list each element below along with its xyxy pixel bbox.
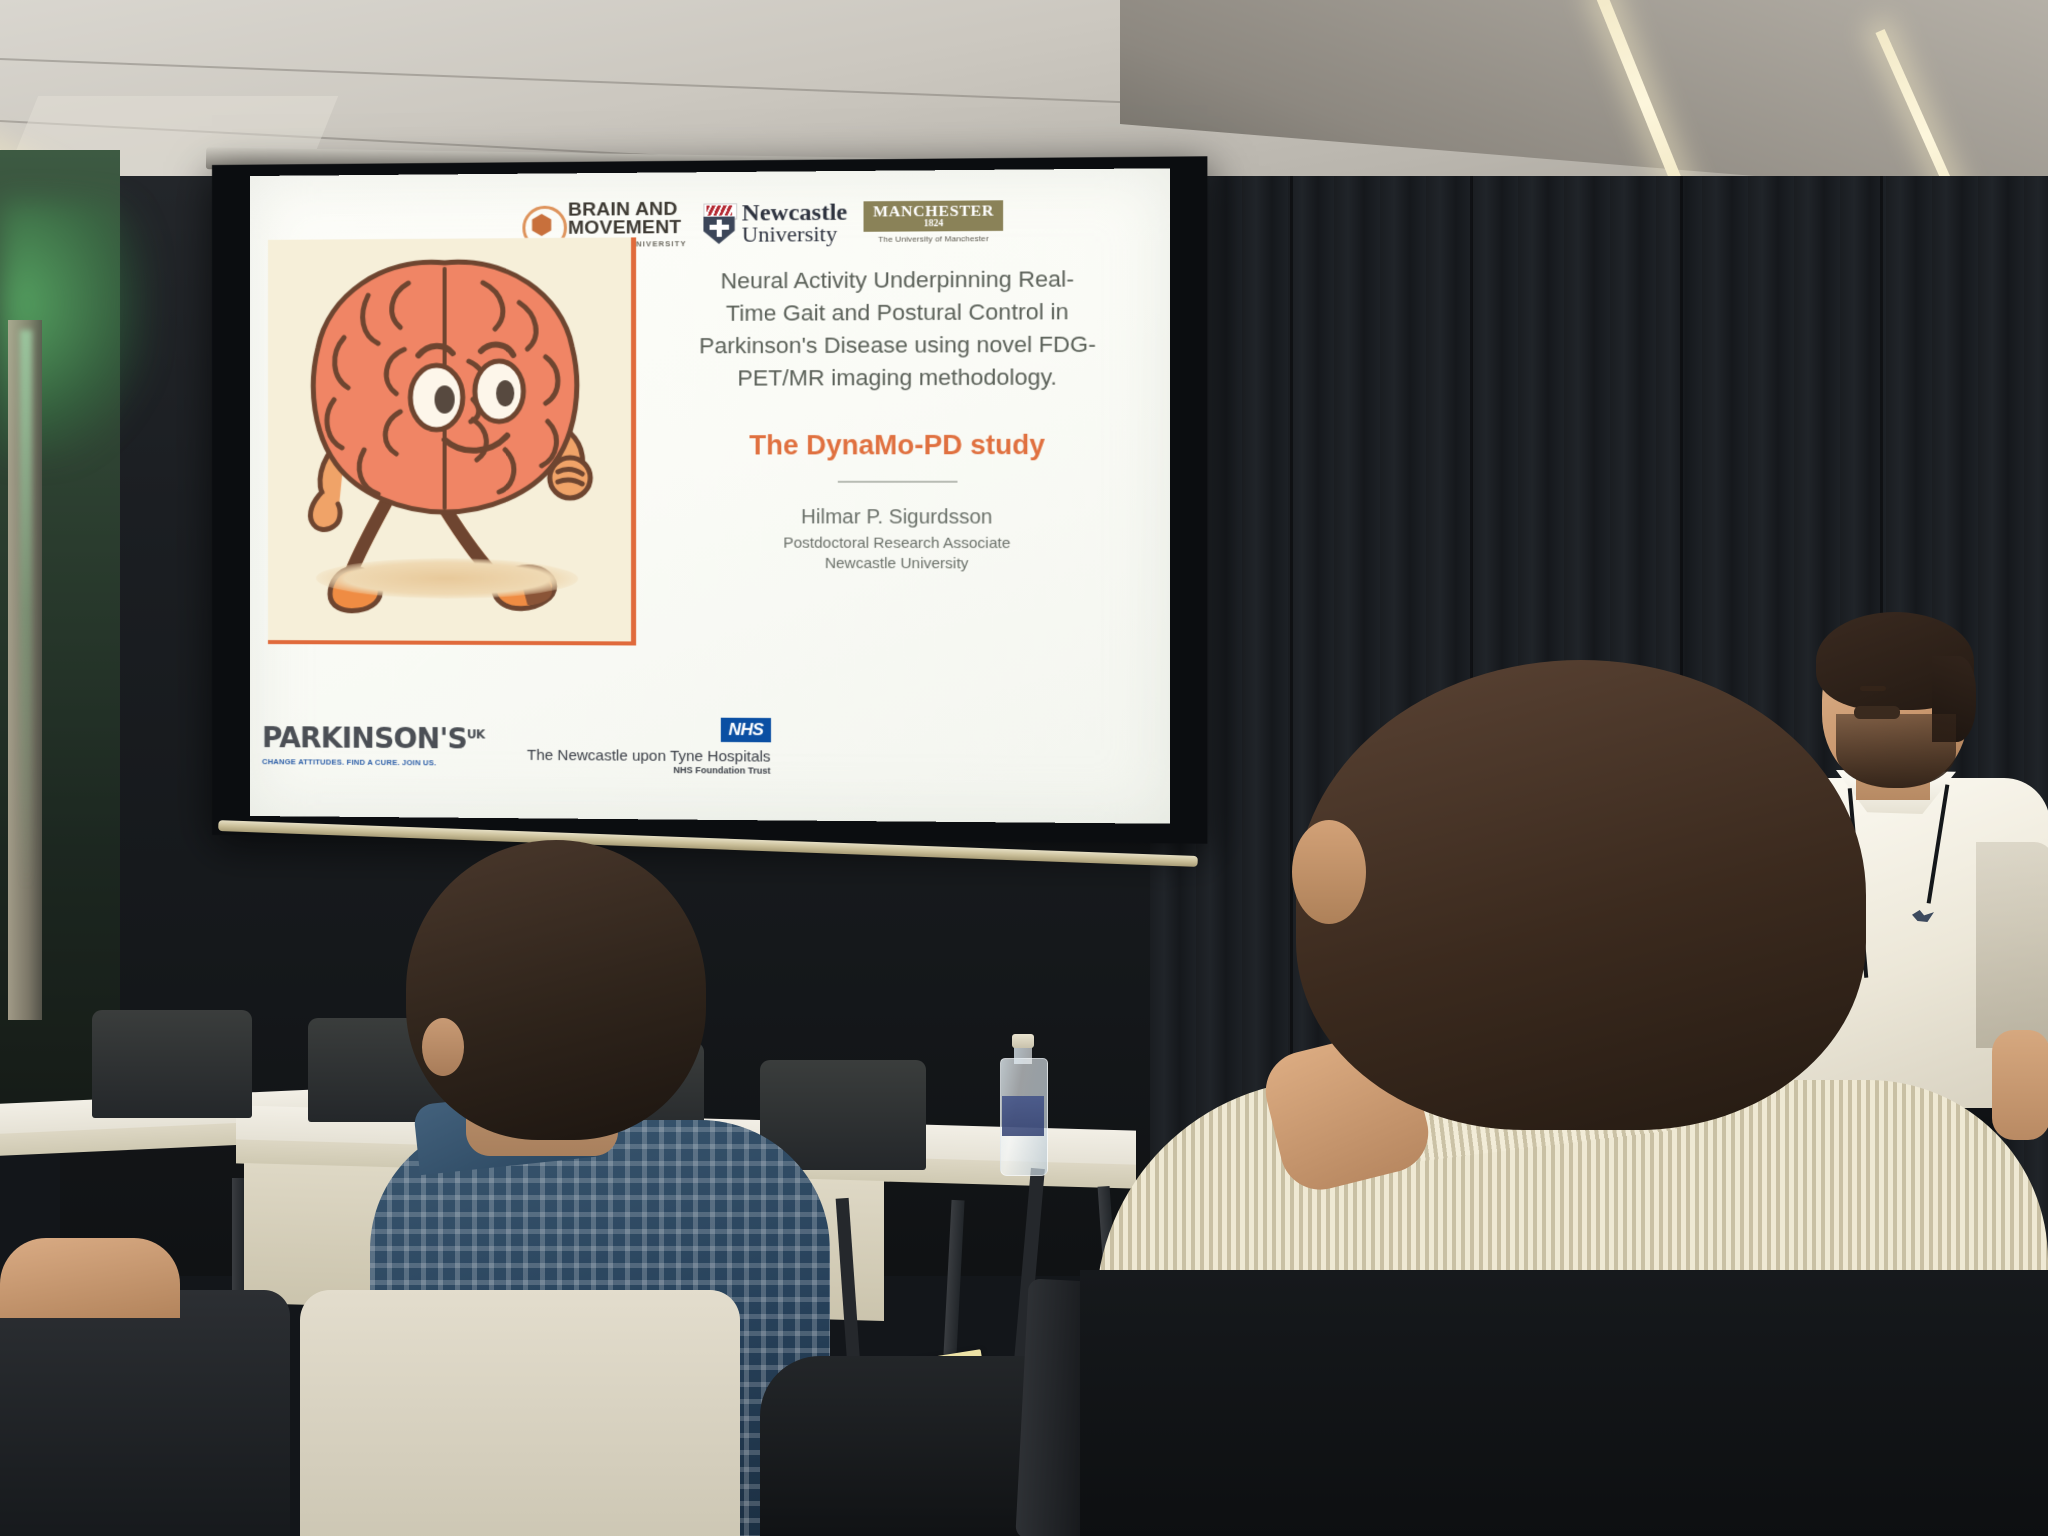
- author-role: Postdoctoral Research Associate: [645, 533, 1151, 554]
- bottle-label: [1002, 1096, 1044, 1136]
- nhs-badge-text: NHS: [728, 719, 763, 738]
- author-name: Hilmar P. Sigurdsson: [645, 506, 1151, 530]
- slide-bottom-logos: PARKINSON'SUK CHANGE ATTITUDES. FIND A C…: [262, 702, 830, 792]
- parkinsons-uk-logo: PARKINSON'SUK CHANGE ATTITUDES. FIND A C…: [262, 724, 485, 768]
- manchester-wordmark: MANCHESTER: [873, 203, 994, 220]
- walking-brain-illustration: [268, 237, 636, 645]
- manchester-year: 1824: [873, 219, 994, 230]
- parkinsons-tagline: CHANGE ATTITUDES. FIND A CURE. JOIN US.: [262, 757, 485, 768]
- study-name: The DynaMo-PD study: [645, 429, 1151, 461]
- newcastle-university-logo: Newcastle University: [703, 201, 847, 245]
- nhs-line1: The Newcastle upon Tyne Hospitals: [527, 746, 771, 765]
- author-affiliation: Newcastle University: [645, 554, 1151, 575]
- ncl-line2: University: [742, 224, 847, 245]
- foreground-chair-back[interactable]: [0, 1290, 290, 1536]
- chair[interactable]: [92, 1010, 252, 1118]
- parkinsons-uk-sup: UK: [467, 727, 485, 741]
- manchester-subtitle: The University of Manchester: [864, 234, 1004, 244]
- bottle-cap: [1012, 1034, 1034, 1048]
- nhs-line2: NHS Foundation Trust: [527, 763, 771, 775]
- parkinsons-wordmark: PARKINSON'S: [262, 721, 467, 755]
- water-bottle[interactable]: [1000, 1034, 1046, 1174]
- presentation-room-scene: BRAIN AND MOVEMENT NEWCASTLE UNIVERSITY …: [0, 0, 2048, 1536]
- author-block: Hilmar P. Sigurdsson Postdoctoral Resear…: [645, 506, 1151, 575]
- attendee-hair: [406, 840, 706, 1140]
- newcastle-crest-icon: [703, 203, 735, 244]
- title-line-3: Parkinson's Disease using novel FDG-: [645, 328, 1151, 362]
- attendee2-hair: [1296, 660, 1866, 1130]
- slide-title: Neural Activity Underpinning Real- Time …: [645, 263, 1151, 395]
- bm-line2: MOVEMENT: [568, 219, 687, 238]
- attendee-ear: [422, 1018, 464, 1076]
- slide-divider: [838, 481, 958, 483]
- attendee-shoulder: [0, 1238, 180, 1318]
- title-line-4: PET/MR imaging methodology.: [645, 361, 1151, 395]
- title-line-2: Time Gait and Postural Control in: [645, 295, 1151, 330]
- left-pillar-highlight: [20, 330, 32, 890]
- manchester-university-logo: MANCHESTER 1824 The University of Manche…: [864, 200, 1004, 245]
- title-line-1: Neural Activity Underpinning Real-: [645, 263, 1151, 298]
- nhs-trust-logo: NHS The Newcastle upon Tyne Hospitals NH…: [527, 720, 771, 775]
- projected-slide: BRAIN AND MOVEMENT NEWCASTLE UNIVERSITY …: [250, 168, 1170, 823]
- nhs-badge-icon: NHS: [721, 717, 770, 742]
- attendee2-ear: [1292, 820, 1366, 924]
- foreground-chair-back[interactable]: [300, 1290, 740, 1536]
- floor: [1080, 1270, 2048, 1536]
